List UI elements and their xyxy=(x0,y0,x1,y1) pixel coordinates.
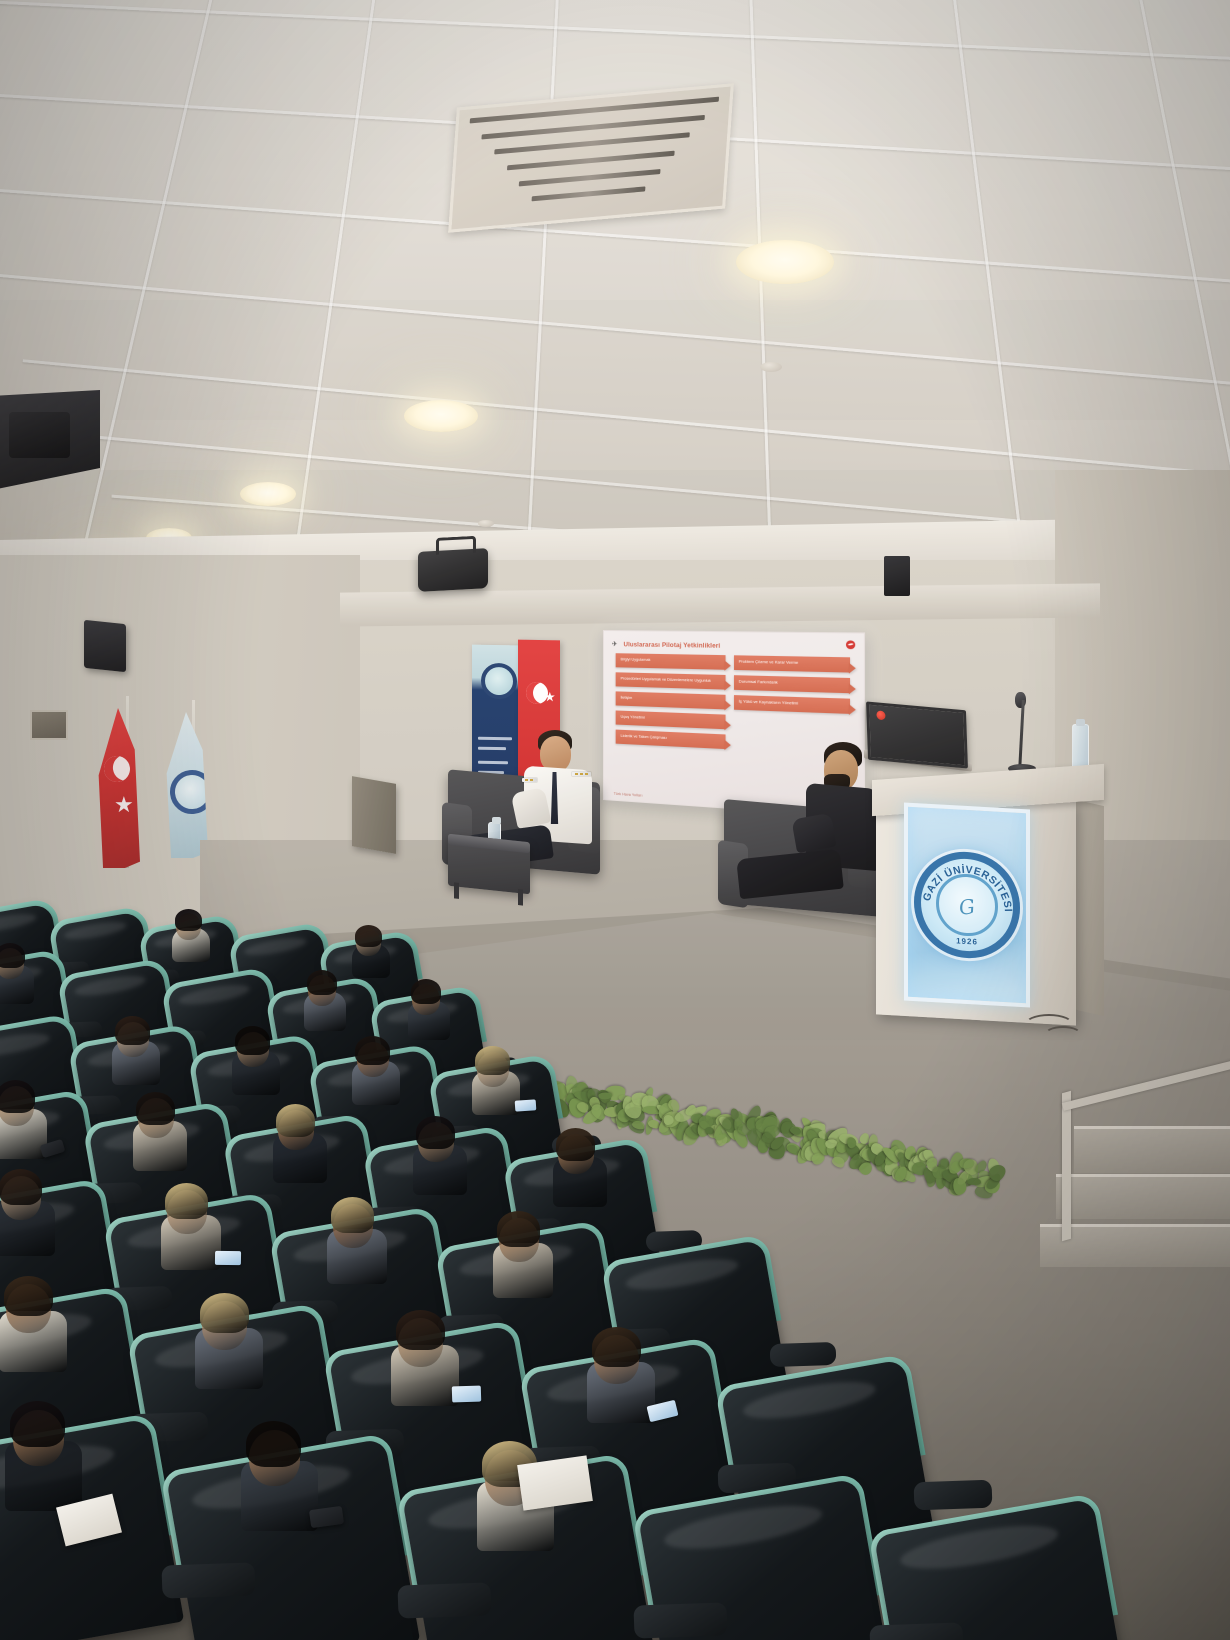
hair xyxy=(165,1183,208,1219)
hair xyxy=(497,1211,540,1247)
airline-logo-icon xyxy=(845,640,855,650)
hair xyxy=(396,1310,445,1350)
wall-plaque xyxy=(30,710,68,740)
hair xyxy=(475,1046,510,1075)
hair xyxy=(556,1128,595,1161)
coffee-table xyxy=(448,834,530,895)
audience-member xyxy=(176,909,221,986)
slide-footer: Türk Hava Yolları xyxy=(614,792,643,798)
hair xyxy=(592,1327,641,1367)
audience-member xyxy=(1,1169,61,1263)
hair xyxy=(0,943,25,968)
hair xyxy=(355,1036,390,1065)
hair xyxy=(411,979,441,1004)
audience-member xyxy=(202,1293,267,1392)
hair xyxy=(115,1016,150,1045)
seat-armrest xyxy=(914,1480,993,1511)
hair xyxy=(331,1197,374,1233)
slide-box: Problem Çözme ve Karar Verme xyxy=(733,655,850,672)
crescent-icon xyxy=(102,754,131,783)
slide-columns: Bilgiyi Uygulamak Prosedürleri Uygulamak… xyxy=(613,653,854,755)
ceiling-projector-icon xyxy=(418,548,488,592)
slide-box: İş Yükü ve Kaynakların Yönetimi xyxy=(733,695,850,714)
hvac-diffuser-icon xyxy=(448,83,734,232)
smartphone xyxy=(515,1099,537,1111)
downlight-icon xyxy=(240,482,296,506)
laptop xyxy=(866,702,968,769)
audience-member xyxy=(0,943,44,1024)
wall-speaker-icon xyxy=(84,620,126,672)
epaulette xyxy=(522,778,537,782)
audience-member xyxy=(418,1116,474,1206)
hair xyxy=(200,1293,249,1333)
audience-member xyxy=(558,1128,614,1218)
seat-armrest xyxy=(397,1582,491,1618)
slide-box: Prosedürleri Uygulamak ve Düzenlemelere … xyxy=(616,672,725,689)
slide-title: Uluslararası Pilotaj Yetkinlikleri xyxy=(624,641,854,652)
slide-box: Uçuş Yönetimi xyxy=(616,710,725,729)
audience-member xyxy=(333,1197,393,1291)
downlight-icon xyxy=(736,240,834,284)
audience-member xyxy=(138,1092,194,1182)
hair xyxy=(4,1276,53,1316)
seat-armrest xyxy=(869,1622,963,1640)
audience-member xyxy=(237,1026,289,1111)
hair xyxy=(276,1104,315,1137)
water-bottle xyxy=(1072,724,1089,770)
smartphone xyxy=(215,1251,241,1265)
smoke-detector-icon xyxy=(760,362,782,372)
seat-armrest xyxy=(161,1562,255,1598)
downlight-icon xyxy=(404,400,478,432)
hair xyxy=(355,925,382,947)
slide-column-right: Problem Çözme ve Karar Verme Durumsal Fa… xyxy=(731,655,850,755)
star-icon: ★ xyxy=(114,794,134,816)
smoke-detector-icon xyxy=(478,520,494,527)
banner-emblem-icon xyxy=(481,663,517,700)
hair xyxy=(416,1116,455,1149)
hair xyxy=(136,1092,175,1125)
hair xyxy=(0,1080,35,1113)
notebook-paper xyxy=(517,1455,593,1510)
laptop-logo-icon xyxy=(876,710,885,720)
audience-member xyxy=(499,1211,559,1305)
epaulette xyxy=(572,772,591,776)
audience-member xyxy=(117,1016,169,1101)
wall-speaker-icon xyxy=(884,556,910,596)
audience-member xyxy=(278,1104,334,1194)
hair xyxy=(307,970,337,995)
seat-armrest xyxy=(633,1602,727,1638)
seat-armrest xyxy=(770,1342,837,1367)
moderator xyxy=(802,742,882,892)
hair xyxy=(246,1421,301,1467)
slide-box: Liderlik ve Takım Çalışması xyxy=(616,730,725,749)
slide-column-left: Bilgiyi Uygulamak Prosedürleri Uygulamak… xyxy=(616,653,725,749)
smartphone xyxy=(452,1386,482,1403)
hair xyxy=(175,909,202,931)
audience-member xyxy=(357,1036,409,1121)
audience-member xyxy=(13,1401,84,1507)
audience-seating xyxy=(0,900,1230,1640)
audience-member xyxy=(308,970,356,1051)
slide-box: Bilgiyi Uygulamak xyxy=(616,653,725,670)
hair xyxy=(235,1026,270,1055)
hair xyxy=(0,1169,42,1205)
slide-box: Durumsal Farkındalık xyxy=(733,675,850,693)
arm xyxy=(791,813,836,853)
airplane-icon: ✈ xyxy=(612,642,620,648)
audience-member xyxy=(6,1276,71,1375)
side-cabinet xyxy=(352,776,396,854)
hair xyxy=(10,1401,65,1447)
slide-box: İletişim xyxy=(616,691,725,709)
audience-member xyxy=(477,1046,529,1131)
pilot-speaker xyxy=(512,730,602,860)
auditorium-photo: ★ ★ ✈ Uluslararası Pilotaj Yetkinlikleri… xyxy=(0,0,1230,1640)
